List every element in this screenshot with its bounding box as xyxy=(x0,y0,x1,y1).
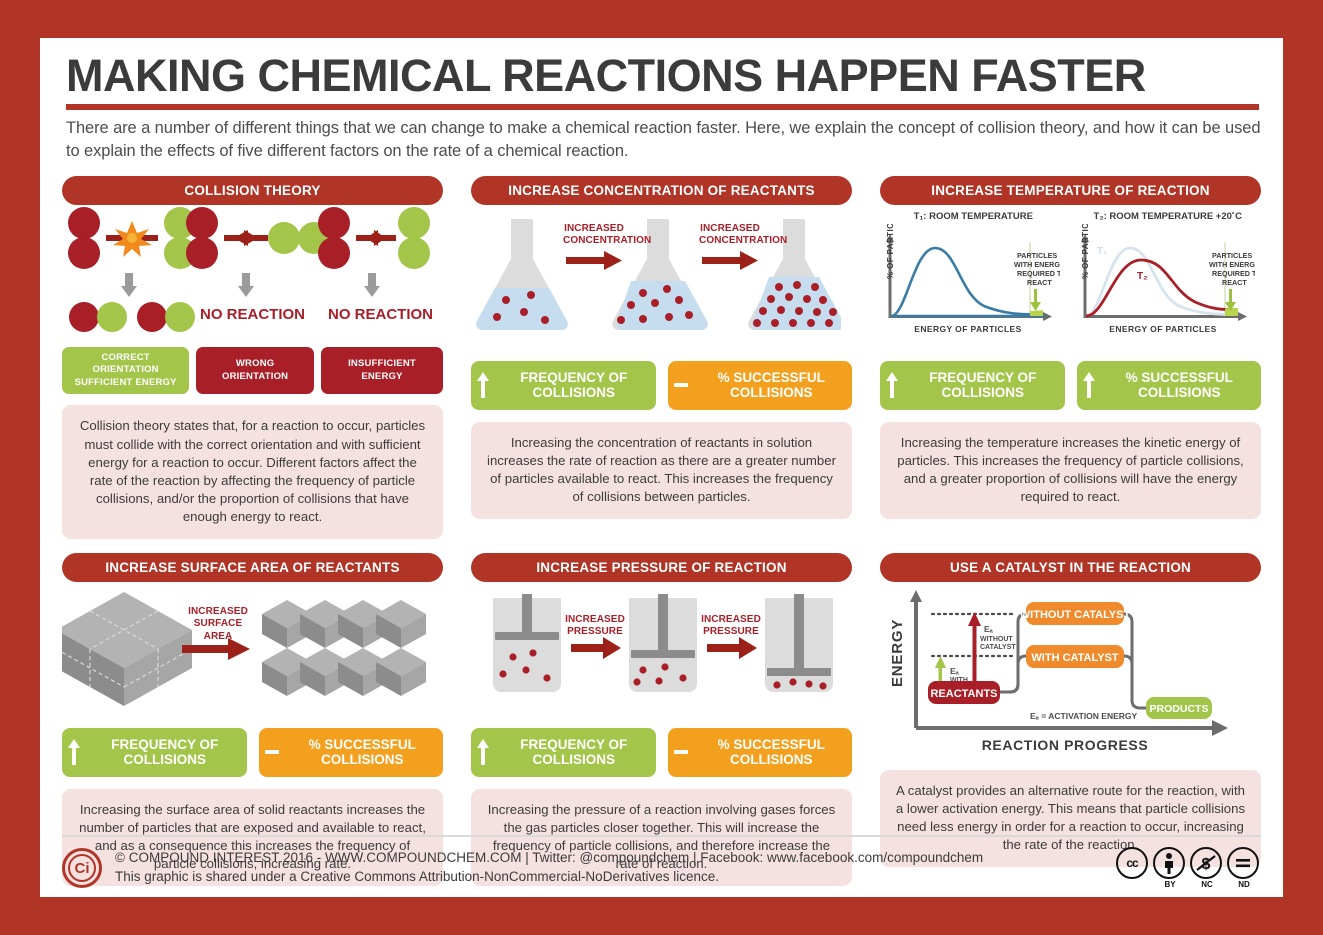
temperature-charts: T₁: ROOM TEMPERATURE % OF PARTICLES ENER… xyxy=(880,205,1261,357)
catalyst-xlabel: REACTION PROGRESS xyxy=(982,737,1149,753)
description-increase-temperature: Increasing the temperature increases the… xyxy=(880,422,1261,519)
chart-t2-title: T₂: ROOM TEMPERATURE +20˚C xyxy=(1075,211,1262,222)
tag-correct-orientation-line2: SUFFICIENT ENERGY xyxy=(69,377,182,390)
footer-line-2: This graphic is shared under a Creative … xyxy=(115,868,1116,887)
panel-increase-temperature: INCREASE TEMPERATURE OF REACTION T₁: ROO… xyxy=(880,176,1261,539)
arrow-up-icon xyxy=(886,372,898,398)
person-glyph xyxy=(1160,852,1178,874)
tag-correct-orientation: CORRECT ORIENTATION SUFFICIENT ENERGY xyxy=(62,347,189,395)
chart-t2-svg: T₁ T₂ % OF PARTICLES ENERGY OF PARTICLES… xyxy=(1075,224,1255,340)
badges-increase-surface-area: FREQUENCY OF COLLISIONS % SUCCESSFUL COL… xyxy=(62,728,443,777)
label-no-reaction-wrong-orientation: NO REACTION xyxy=(200,306,305,323)
svg-text:REACT: REACT xyxy=(1027,278,1052,287)
panel-title-increase-pressure: INCREASE PRESSURE OF REACTION xyxy=(471,553,852,582)
concentration-svg xyxy=(471,205,841,355)
panel-collision-theory: COLLISION THEORY xyxy=(62,176,443,539)
surface-area-svg xyxy=(62,582,432,722)
svg-text:WITH ENERGY: WITH ENERGY xyxy=(1209,260,1255,269)
chart-t1-title: T₁: ROOM TEMPERATURE xyxy=(880,211,1067,222)
badge-frequency-label: FREQUENCY OF COLLISIONS xyxy=(89,737,241,768)
cc-label-nd: ND xyxy=(1227,880,1261,889)
badge-frequency-label: FREQUENCY OF COLLISIONS xyxy=(907,370,1059,401)
badge-successful-label: % SUCCESSFUL COLLISIONS xyxy=(1104,370,1256,401)
page-title: MAKING CHEMICAL REACTIONS HAPPEN FASTER xyxy=(62,52,1261,99)
tag-correct-orientation-line1: CORRECT ORIENTATION xyxy=(69,352,182,377)
label-products: PRODUCTS xyxy=(1150,703,1209,715)
arrow-up-icon xyxy=(68,739,80,765)
cc-icon: cc xyxy=(1116,847,1148,879)
equals-glyph xyxy=(1233,853,1253,873)
badge-frequency-of-collisions-sa: FREQUENCY OF COLLISIONS xyxy=(62,728,247,777)
concentration-diagram: INCREASED CONCENTRATION INCREASED CONCEN… xyxy=(471,205,852,357)
footer-line-1: © COMPOUND INTEREST 2016 - WWW.COMPOUNDC… xyxy=(115,849,1116,868)
arrow-up-icon xyxy=(1083,372,1095,398)
compound-interest-logo-icon: Ci xyxy=(62,848,102,888)
label-reactants: REACTANTS xyxy=(930,688,997,700)
chart-maxwell-boltzmann-t1: T₁: ROOM TEMPERATURE % OF PARTICLES ENER… xyxy=(880,205,1067,340)
chart-t2-legend-t2: T₂ xyxy=(1137,271,1148,282)
svg-text:PARTICLES: PARTICLES xyxy=(1017,251,1057,260)
logo-text: Ci xyxy=(68,854,96,882)
chart-t2-ylabel: % OF PARTICLES xyxy=(1081,224,1090,279)
footer-text: © COMPOUND INTEREST 2016 - WWW.COMPOUNDC… xyxy=(115,849,1116,887)
catalyst-ylabel: ENERGY xyxy=(889,619,906,687)
badge-frequency-of-collisions-temp: FREQUENCY OF COLLISIONS xyxy=(880,361,1065,410)
large-cube xyxy=(62,592,192,706)
badge-successful-label: % SUCCESSFUL COLLISIONS xyxy=(697,370,847,401)
flask-low-concentration xyxy=(476,219,568,330)
badges-increase-concentration: FREQUENCY OF COLLISIONS % SUCCESSFUL COL… xyxy=(471,361,852,410)
catalyst-energy-svg: ENERGY Eₐ WITHOUT CATALYST xyxy=(880,582,1250,768)
badge-frequency-label: FREQUENCY OF COLLISIONS xyxy=(498,370,650,401)
cc-badge-by: BY xyxy=(1153,847,1187,889)
label-no-reaction-insufficient-energy: NO REACTION xyxy=(328,306,433,323)
badge-percent-successful-collisions-pressure: % SUCCESSFUL COLLISIONS xyxy=(668,728,853,777)
step-label-increased-concentration-1: INCREASED CONCENTRATION xyxy=(563,223,625,248)
poster-sheet: MAKING CHEMICAL REACTIONS HAPPEN FASTER … xyxy=(40,38,1283,897)
step-label-increased-pressure-2: INCREASED PRESSURE xyxy=(701,614,761,639)
description-increase-concentration: Increasing the concentration of reactant… xyxy=(471,422,852,519)
description-collision-theory: Collision theory states that, for a reac… xyxy=(62,405,443,538)
small-cubes xyxy=(262,600,426,696)
collision-theory-svg xyxy=(62,205,432,345)
panel-increase-concentration: INCREASE CONCENTRATION OF REACTANTS xyxy=(471,176,852,539)
noncommercial-icon: $ xyxy=(1190,847,1222,879)
panel-title-increase-concentration: INCREASE CONCENTRATION OF REACTANTS xyxy=(471,176,852,205)
title-underline xyxy=(66,104,1259,110)
badge-frequency-label: FREQUENCY OF COLLISIONS xyxy=(498,737,650,768)
dash-icon xyxy=(674,383,688,387)
syringe-high-pressure xyxy=(765,594,833,692)
tag-insufficient-energy-label: INSUFFICIENT ENERGY xyxy=(328,358,436,383)
badge-percent-successful-collisions-temp: % SUCCESSFUL COLLISIONS xyxy=(1077,361,1262,410)
step-label-increased-surface-area: INCREASED SURFACE AREA xyxy=(182,606,254,644)
poster-frame: MAKING CHEMICAL REACTIONS HAPPEN FASTER … xyxy=(0,0,1323,935)
cc-label-nc: NC xyxy=(1190,880,1224,889)
badge-successful-label: % SUCCESSFUL COLLISIONS xyxy=(697,737,847,768)
chart-t1-svg: % OF PARTICLES ENERGY OF PARTICLES PARTI… xyxy=(880,224,1060,340)
noderivatives-icon xyxy=(1227,847,1259,879)
panel-title-increase-temperature: INCREASE TEMPERATURE OF REACTION xyxy=(880,176,1261,205)
attribution-person-icon xyxy=(1153,847,1185,879)
chart-t1-xlabel: ENERGY OF PARTICLES xyxy=(914,324,1021,334)
cc-badge-nd: ND xyxy=(1227,847,1261,889)
badge-successful-label: % SUCCESSFUL COLLISIONS xyxy=(288,737,438,768)
svg-text:WITH ENERGY: WITH ENERGY xyxy=(1014,260,1060,269)
dash-icon xyxy=(265,750,279,754)
syringe-low-pressure xyxy=(493,594,561,692)
badge-percent-successful-collisions-sa: % SUCCESSFUL COLLISIONS xyxy=(259,728,444,777)
catalyst-energy-diagram: ENERGY Eₐ WITHOUT CATALYST xyxy=(880,582,1261,768)
collision-theory-diagram: NO REACTION NO REACTION xyxy=(62,205,443,345)
chart-maxwell-boltzmann-t2: T₂: ROOM TEMPERATURE +20˚C T₁ T₂ xyxy=(1075,205,1262,340)
dash-icon xyxy=(674,750,688,754)
chart-t2-xlabel: ENERGY OF PARTICLES xyxy=(1109,324,1216,334)
badge-frequency-of-collisions: FREQUENCY OF COLLISIONS xyxy=(471,361,656,410)
label-with-catalyst: WITH CATALYST xyxy=(1031,652,1118,664)
label-ea-without-2: WITHOUT xyxy=(980,636,1013,643)
page-subtitle: There are a number of different things t… xyxy=(62,117,1261,162)
svg-text:REQUIRED TO: REQUIRED TO xyxy=(1212,269,1255,278)
svg-text:REQUIRED TO: REQUIRED TO xyxy=(1017,269,1060,278)
badges-increase-temperature: FREQUENCY OF COLLISIONS % SUCCESSFUL COL… xyxy=(880,361,1261,410)
badge-percent-successful-collisions: % SUCCESSFUL COLLISIONS xyxy=(668,361,853,410)
cc-badge-cc: cc xyxy=(1116,847,1150,880)
arrow-up-icon xyxy=(477,739,489,765)
footer: Ci © COMPOUND INTEREST 2016 - WWW.COMPOU… xyxy=(62,835,1261,889)
label-ea-with-1: Eₐ xyxy=(950,666,960,676)
chart-t1-ylabel: % OF PARTICLES xyxy=(886,224,895,279)
step-label-increased-concentration-2: INCREASED CONCENTRATION xyxy=(699,223,761,248)
cc-badge-nc: $ NC xyxy=(1190,847,1224,889)
label-ea-without-1: Eₐ xyxy=(984,624,994,634)
creative-commons-badges: cc BY $ xyxy=(1116,847,1261,889)
pressure-svg xyxy=(471,582,841,722)
dollar-crossed-glyph: $ xyxy=(1195,852,1217,874)
label-activation-energy-note: Eₐ = ACTIVATION ENERGY xyxy=(1030,711,1138,721)
label-ea-without-3: CATALYST xyxy=(980,644,1016,651)
cc-label-by: BY xyxy=(1153,880,1187,889)
chart-t2-legend-t1: T₁ xyxy=(1097,246,1107,257)
svg-text:REACT: REACT xyxy=(1222,278,1247,287)
panel-grid: COLLISION THEORY xyxy=(62,176,1261,886)
syringe-medium-pressure xyxy=(629,594,697,692)
label-without-catalyst: WITHOUT CATALYST xyxy=(1020,609,1131,621)
badge-frequency-of-collisions-pressure: FREQUENCY OF COLLISIONS xyxy=(471,728,656,777)
badges-increase-pressure: FREQUENCY OF COLLISIONS % SUCCESSFUL COL… xyxy=(471,728,852,777)
tag-insufficient-energy: INSUFFICIENT ENERGY xyxy=(321,347,443,395)
surface-area-diagram: INCREASED SURFACE AREA xyxy=(62,582,443,724)
tag-wrong-orientation-label: WRONG ORIENTATION xyxy=(203,358,307,383)
panel-title-collision-theory: COLLISION THEORY xyxy=(62,176,443,205)
panel-title-increase-surface-area: INCREASE SURFACE AREA OF REACTANTS xyxy=(62,553,443,582)
pressure-diagram: INCREASED PRESSURE INCREASED PRESSURE xyxy=(471,582,852,724)
tag-wrong-orientation: WRONG ORIENTATION xyxy=(196,347,314,395)
svg-text:PARTICLES: PARTICLES xyxy=(1212,251,1252,260)
collision-theory-tags: CORRECT ORIENTATION SUFFICIENT ENERGY WR… xyxy=(62,347,443,395)
panel-title-use-a-catalyst: USE A CATALYST IN THE REACTION xyxy=(880,553,1261,582)
step-label-increased-pressure-1: INCREASED PRESSURE xyxy=(565,614,625,639)
arrow-up-icon xyxy=(477,372,489,398)
